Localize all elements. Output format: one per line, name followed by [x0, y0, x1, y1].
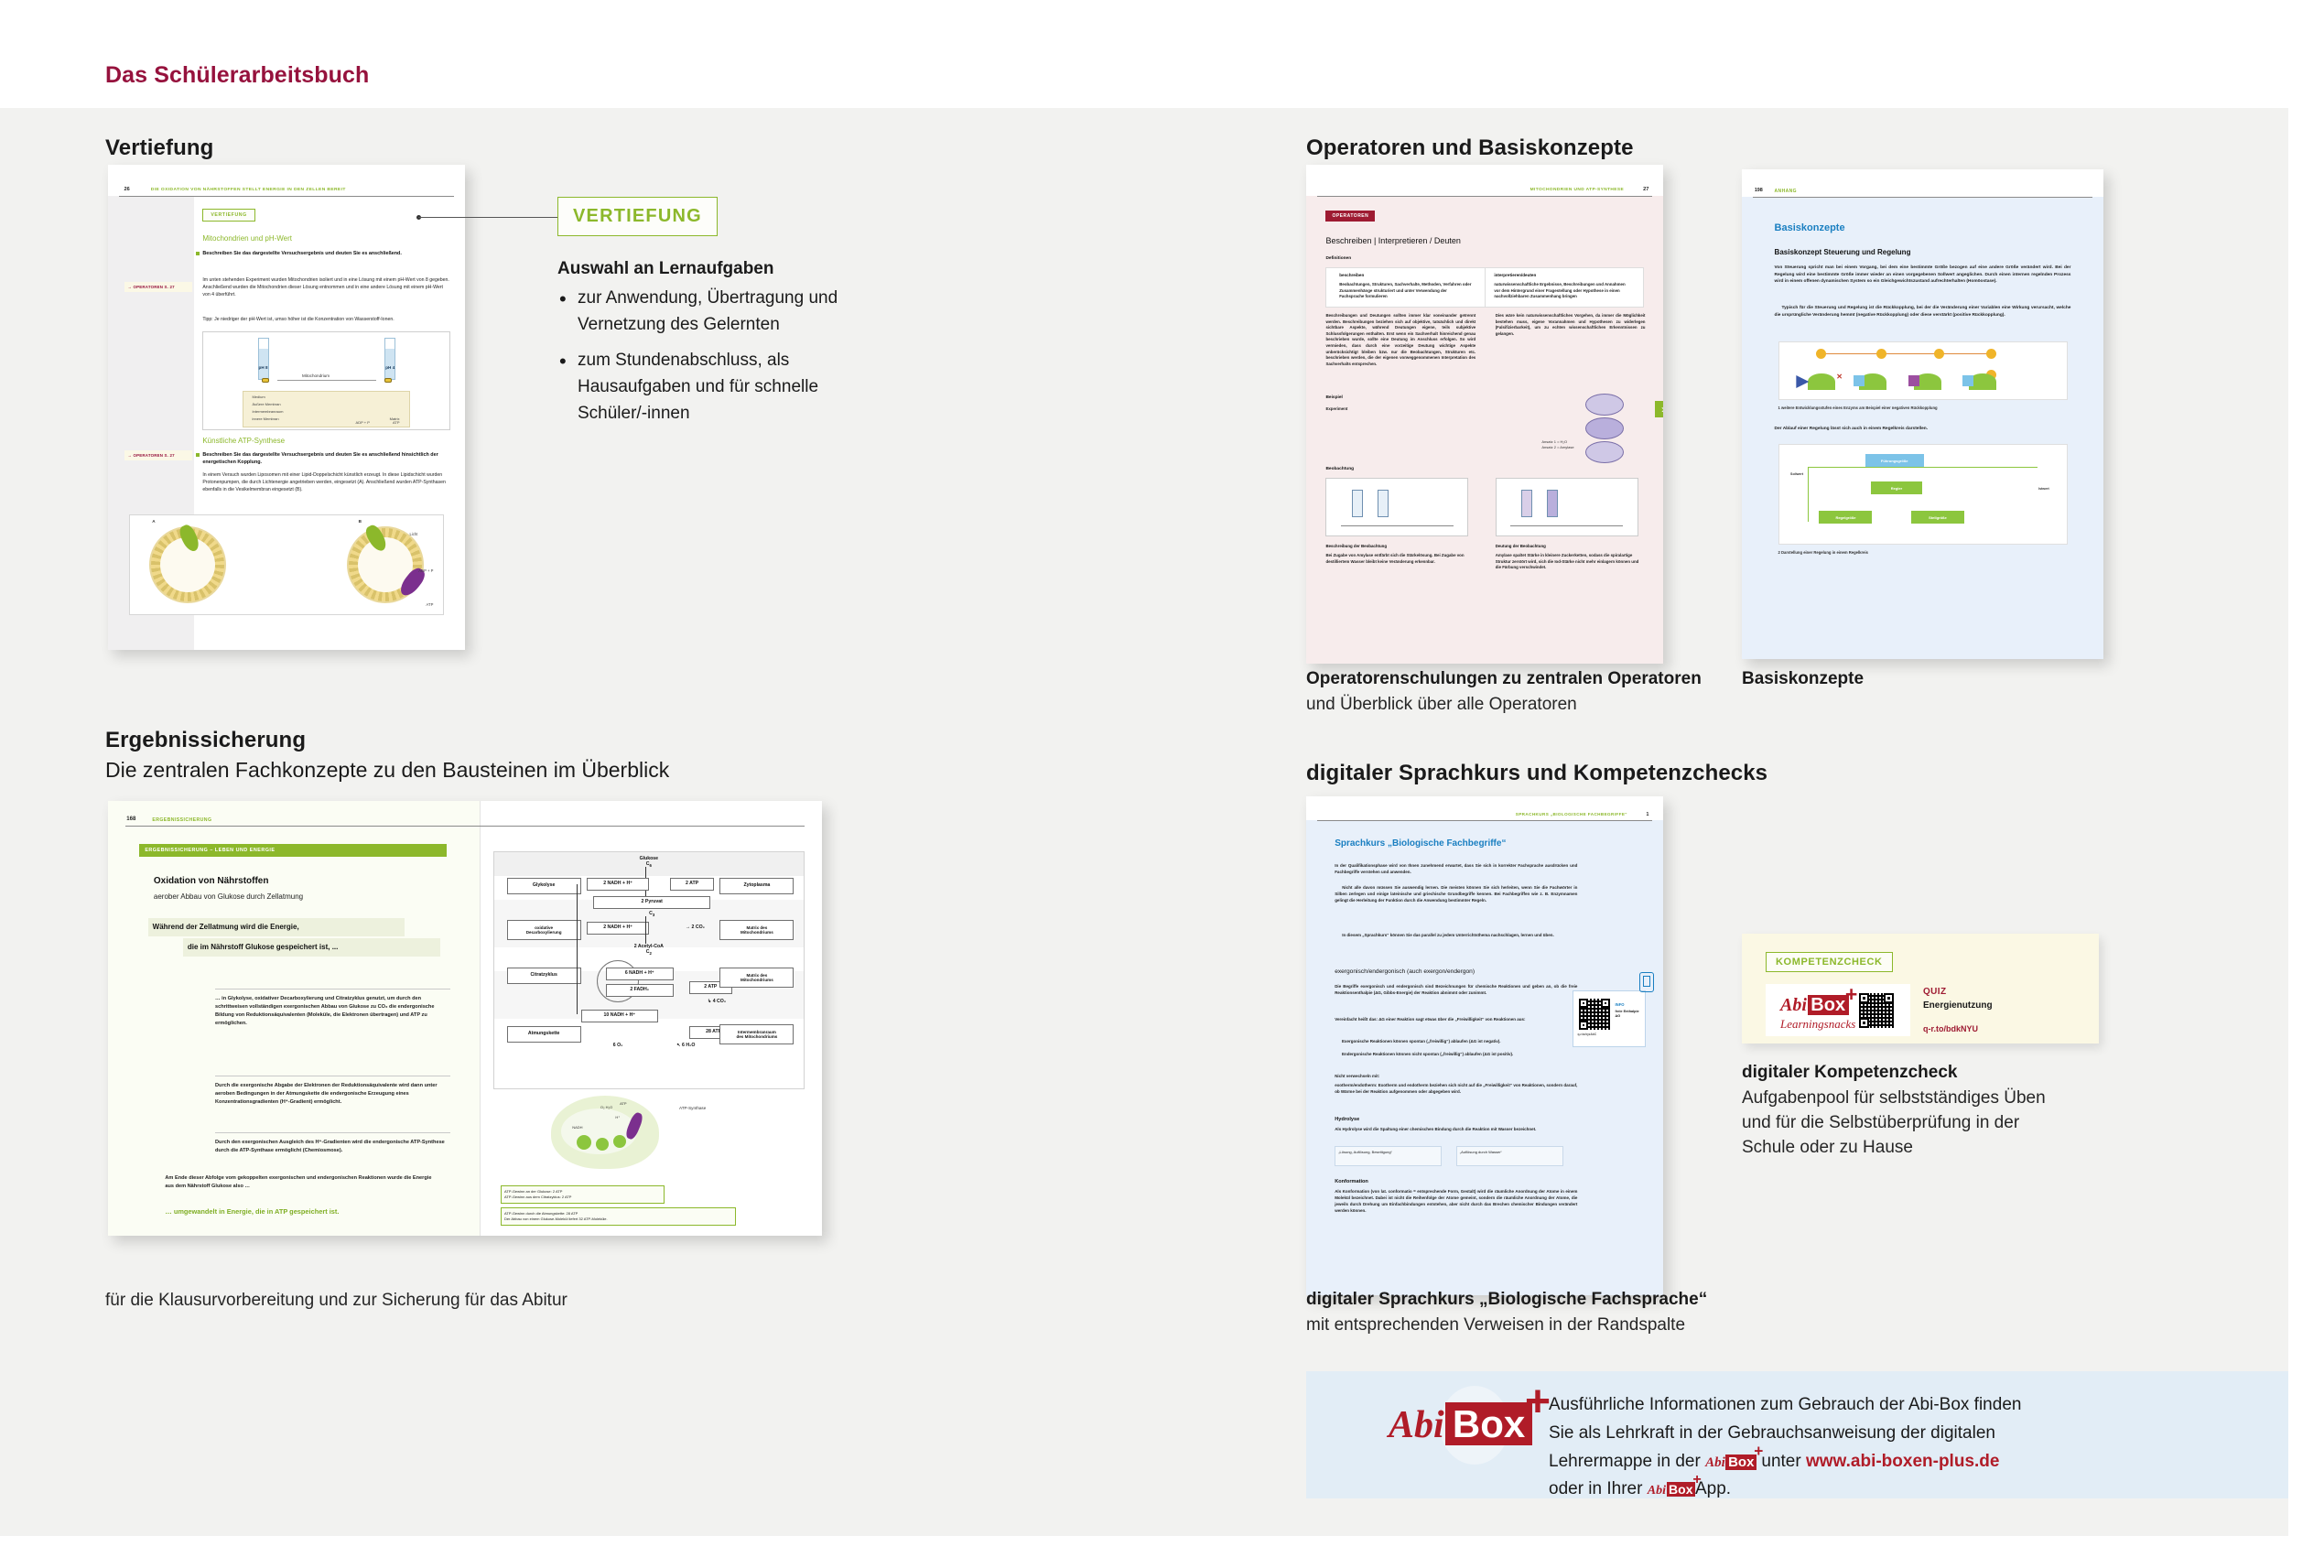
flow-node-pyruvat: 2 Pyruvat — [593, 896, 710, 909]
konformation-heading: Konformation — [1335, 1179, 1368, 1184]
abibox-logo-box: Box — [1445, 1402, 1531, 1445]
section-bar: ERGEBNISSICHERUNG – LEBEN UND ENERGIE — [139, 844, 446, 857]
test-tube-right: pH 4 — [384, 338, 395, 380]
info-label: INFO — [1616, 1002, 1625, 1007]
basiskonzepte-para-2: Typisch für die Steuerung und Regelung i… — [1775, 305, 2071, 319]
plus-icon: + — [1692, 1472, 1701, 1487]
flow-nadh-1: 2 NADH + H⁺ — [587, 878, 648, 891]
smartphone-icon — [1639, 972, 1654, 992]
figure-equation: Ansatz 1 = H₂OAnsatz 2 = Amylase — [1541, 439, 1573, 449]
hydrolyse-heading: Hydrolyse — [1335, 1117, 1359, 1122]
tube-mid — [1585, 417, 1624, 439]
page-folio: 168 — [126, 816, 135, 822]
tube-cap — [259, 339, 268, 349]
highlight-line-2: die im Nährstoff Glukose gespeichert ist… — [183, 938, 440, 957]
info-line-3-a: Lehrermappe in der — [1549, 1452, 1701, 1471]
term-bullet-1: Exergonische Reaktionen können spontan (… — [1342, 1038, 1577, 1044]
operatoren-chip: OPERATOREN — [1325, 211, 1375, 222]
flow-compartment-zytoplasma: Zytoplasma — [719, 878, 794, 894]
figure-experiment-left — [1325, 478, 1468, 536]
qr-code[interactable] — [1579, 999, 1610, 1030]
vertiefung-task: Beschreiben Sie das dargestellte Versuch… — [202, 250, 450, 257]
plus-icon: + — [1845, 984, 1857, 1005]
operatoren-body-2: Dies wäre kein naturwissenschaftliches V… — [1496, 313, 1646, 337]
page-spine — [480, 801, 481, 1236]
flow-nadh-3: 6 NADH + H⁺ — [606, 968, 674, 980]
beobachtung-label: Beobachtung — [1325, 467, 1354, 471]
intermediate-3 — [1962, 375, 1973, 386]
vertiefung-tip: Tipp: Je niedriger der pH-Wert ist, umso… — [202, 317, 450, 324]
abibox-logo-large: AbiBox+ — [1389, 1402, 1532, 1447]
flow-arrow — [645, 867, 646, 878]
sprachkurs-title: Sprachkurs „Biologische Fachbegriffe“ — [1335, 838, 1506, 849]
quiz-title: Energienutzung — [1923, 1000, 1993, 1011]
section-subheading-ergebnissicherung: Die zentralen Fachkonzepte zu den Bauste… — [105, 758, 669, 783]
substrate-node-1 — [1816, 349, 1826, 359]
fig-label-left: Beschreibung der Beobachtung — [1325, 544, 1387, 548]
operatoren-title: Beschreiben | Interpretieren / Deuten — [1325, 236, 1460, 245]
flow-o2: 6 O₂ — [597, 1043, 640, 1048]
info-text: freie Enthalpie ΔG — [1616, 1010, 1645, 1019]
highlight-line-1: Während der Zellatmung wird die Energie, — [148, 918, 405, 936]
fig-text-right: Amylase spaltet Stärke in kleinere Zucke… — [1496, 553, 1646, 571]
flow-fadh2: 2 FADH₂ — [606, 984, 674, 997]
abibox-info-banner: AbiBox+ Ausführliche Informationen zum G… — [1306, 1371, 2288, 1498]
callout-bullet-list: zur Anwendung, Übertragung und Vernetzun… — [557, 286, 850, 436]
vertiefung-headline: Mitochondrien und pH-Wert — [202, 234, 292, 243]
vertiefung-headline-2: Künstliche ATP-Synthese — [202, 437, 285, 445]
mitochondrion-left — [262, 378, 269, 383]
term-para-4: exotherm/endotherm: Exotherm und endothe… — [1335, 1082, 1577, 1095]
page-header-rule — [119, 196, 455, 197]
section-heading-operatoren: Operatoren und Basiskonzepte — [1306, 135, 1634, 161]
figure-center-label: Mitochondrium — [302, 373, 330, 378]
caption-sprachkurs-normal: mit entsprechenden Verweisen in der Rand… — [1306, 1314, 1685, 1338]
caption-ergebnissicherung: für die Klausurvorbereitung und zur Sich… — [105, 1289, 567, 1314]
bench-line — [1341, 525, 1454, 526]
flow-stage-atmungskette: Atmungskette — [507, 1026, 581, 1043]
body-paragraph-2: Durch die exergonische Abgabe der Elektr… — [215, 1082, 454, 1107]
test-tube-left: pH 8 — [258, 338, 269, 380]
definition-card: beschreiben Beobachtungen, Strukturen, S… — [1325, 267, 1643, 308]
vertiefung-badge-inpage: VERTIEFUNG — [202, 209, 254, 222]
qr-caption: q-r.to/xyzAbC — [1578, 1033, 1597, 1036]
info-line-3-b: unter — [1761, 1452, 1800, 1471]
info-line-4-a: oder in Ihrer — [1549, 1479, 1642, 1498]
definition-col1-heading: beschreiben — [1339, 273, 1364, 277]
page-running-head: MITOCHONDRIEN UND ATP-SYNTHESE — [1530, 188, 1625, 192]
abibox-logo: AbiBox+ — [1780, 995, 1849, 1016]
qr-eye-tl — [1579, 999, 1588, 1008]
abibox-logo-box: Box — [1808, 995, 1849, 1015]
caption-operatoren-bold: Operatorenschulungen zu zentralen Operat… — [1306, 669, 1702, 689]
quiz-label: QUIZ — [1923, 987, 1947, 997]
info-banner-text: Ausführliche Informationen zum Gebrauch … — [1549, 1391, 2021, 1504]
definition-col2-heading: interpretieren/deuten — [1494, 273, 1536, 277]
header-band — [0, 0, 2324, 108]
section-heading-ergebnissicherung: Ergebnissicherung — [105, 728, 306, 753]
label-atp-synthase: ATP-Synthase — [679, 1106, 706, 1110]
tube-bottom — [1585, 441, 1624, 463]
loop-arrow — [1808, 467, 2038, 468]
label-hplus: H⁺ — [615, 1115, 620, 1119]
info-banner-link[interactable]: www.abi-boxen-plus.de — [1806, 1452, 1999, 1471]
fig-text-left: Bei Zugabe von Amylase entfärbt sich die… — [1325, 553, 1468, 565]
figure-liposomes: A B Licht ADP + P ATP — [129, 514, 443, 615]
qr-eye-bl — [1859, 1018, 1869, 1028]
figure-experiment-right — [1496, 478, 1638, 536]
list-item: zur Anwendung, Übertragung und Vernetzun… — [557, 286, 850, 339]
info-line-1: Ausführliche Informationen zum Gebrauch … — [1549, 1391, 2021, 1420]
flow-co2-1: → 2 CO₂ — [667, 925, 723, 930]
abibox-learningsnacks-logo: AbiBox+ Learningsnacks — [1780, 995, 1855, 1032]
flow-stage-decarboxylierung: oxidativeDecarboxylierung — [507, 920, 581, 940]
info-line-3: Lehrermappe in der AbiBox+ unter www.abi… — [1549, 1448, 2021, 1476]
flow-h2o: ↖ 6 H₂O — [661, 1043, 710, 1048]
page-subtitle: aerober Abbau von Glukose durch Zellatmu… — [154, 892, 303, 901]
loop-node-stellgroesse: Stellgröße — [1911, 511, 1964, 524]
tube-label-left: pH 8 — [259, 365, 268, 370]
beispiel-intro: Experiment — [1325, 406, 1475, 413]
fig-label-right: Deutung der Beobachtung — [1496, 544, 1546, 548]
page-folio: 198 — [1755, 188, 1763, 193]
label-nadh: NADH — [572, 1125, 582, 1130]
caption-kompetenzcheck-bold: digitaler Kompetenzcheck — [1742, 1063, 1957, 1083]
kompetenzcheck-logo-panel: AbiBox+ Learningsnacks — [1766, 984, 1910, 1036]
sprachkurs-para-2: Nicht alle davon müssen Sie auswendig le… — [1335, 884, 1577, 903]
kompetenzcheck-badge: KOMPETENZCHECK — [1766, 952, 1893, 972]
flow-compartment-intermembran: Intermembranraumdes Mitochondriums — [719, 1024, 794, 1044]
kompetenzcheck-card: KOMPETENZCHECK AbiBox+ Learningsnacks QU… — [1742, 934, 2099, 1044]
note-box-2: ATP-Gewinn durch die Atmungskette: 28 AT… — [501, 1207, 736, 1226]
page-running-head: ANHANG — [1775, 189, 1797, 194]
flow-spine — [577, 884, 578, 1014]
abibox-logo: AbiBox+ — [1389, 1402, 1532, 1447]
term-para-3: Nicht verwechseln mit: — [1335, 1073, 1577, 1079]
definition-col2-text: naturwissenschaftliche Ergebnisse, Besch… — [1494, 282, 1629, 300]
abibox-logo-abi: Abi — [1705, 1455, 1725, 1470]
info-line-2: Sie als Lehrkraft in der Gebrauchsanweis… — [1549, 1420, 2021, 1448]
loop-label-istwert: Istwert — [2038, 487, 2049, 491]
flow-node-acetylcoa: 2 Acetyl-CoAC2 — [611, 944, 686, 956]
abibox-logo-box: Box — [1725, 1454, 1757, 1470]
silben-tag-2: „Auflösung durch Wasser“ — [1456, 1146, 1563, 1166]
figure-control-loop: Führungsgröße Regler Regelgröße Stellgrö… — [1778, 444, 2068, 545]
abibox-logo-abi: Abi — [1780, 995, 1807, 1015]
beaker-3 — [1521, 490, 1532, 517]
list-item: zum Stundenabschluss, als Hausaufgaben u… — [557, 348, 850, 427]
body-paragraph-3: Durch den exergonischen Ausgleich des H⁺… — [215, 1139, 454, 1155]
loop-node-regelgroesse: Regelgröße — [1819, 511, 1872, 524]
qr-eye-tl — [1859, 993, 1869, 1003]
closing-statement: … umgewandelt in Energie, die in ATP ges… — [165, 1207, 339, 1216]
loop-node-regler: Regler — [1871, 481, 1922, 494]
metabolism-flow-diagram: GlukoseC6 Glykolyse 2 NADH + H⁺ 2 ATP Zy… — [493, 851, 804, 1089]
fig2-label-atp: ATP — [427, 602, 434, 607]
caption-operatoren-normal: und Überblick über alle Operatoren — [1306, 693, 1577, 718]
term-bullet-2: Endergonische Reaktionen können nicht sp… — [1342, 1051, 1577, 1057]
sprachkurs-para-1: In der Qualifikationsphase wird von Ihne… — [1335, 862, 1577, 875]
qr-eye-tr — [1601, 999, 1610, 1008]
body-paragraph-1: … in Glykolyse, oxidativer Decarboxylier… — [215, 995, 454, 1028]
flow-stage-citratzyklus: Citratzyklus — [507, 968, 581, 984]
basiskonzepte-subtitle: Basiskonzept Steuerung und Regelung — [1775, 248, 1911, 256]
flow-atp-1: 2 ATP — [670, 878, 713, 891]
page-folio: 27 — [1643, 187, 1648, 192]
tube-label-right: pH 4 — [385, 365, 395, 370]
divider — [215, 989, 450, 989]
label-adp: ADP + P — [356, 420, 370, 425]
label-outer-membrane: Äußere Membran — [252, 402, 280, 406]
note-box-1: ATP-Gewinn an der Glukose: 2 ATPATP-Gewi… — [501, 1185, 665, 1204]
figure-enzyme-stages: ✕ — [1778, 341, 2068, 400]
margin-operator-ref-2: → OPERATOREN S. 27 — [124, 450, 192, 460]
fig2-label-b: B — [359, 519, 362, 524]
qr-eye-tr — [1884, 993, 1894, 1003]
term-para-1: Die Begriffe exergonisch und endergonisc… — [1335, 983, 1577, 996]
fig2-label-a: A — [152, 519, 155, 524]
liposome-b — [347, 526, 424, 603]
silben-tag-1: „Lösung, Auflösung, Beseitigung“ — [1335, 1146, 1442, 1166]
definition-col1-text: Beobachtungen, Strukturen, Sachverhalte,… — [1339, 282, 1472, 300]
flow-co2-2: ↳ 4 CO₂ — [686, 999, 747, 1004]
loop-arrow — [1808, 467, 1809, 522]
figure-ph-experiment: pH 8 pH 4 Mitochondrium Medium Äußere Me… — [202, 331, 450, 430]
fig2-label-adp: ADP + P — [418, 568, 433, 573]
page-header-rule — [1317, 196, 1653, 197]
page-folio: 26 — [124, 187, 130, 192]
flow-node-glukose: GlukoseC6 — [611, 856, 686, 868]
label-medium: Medium — [252, 395, 265, 399]
flow-compartment-matrix-2: Matrix desMitochondriums — [719, 968, 794, 988]
loop-label-sollwert: Sollwert — [1790, 472, 1803, 476]
flow-label-c3: C3 — [631, 911, 674, 917]
beispiel-label: Beispiel — [1325, 395, 1342, 400]
substrate-node-2 — [1876, 349, 1886, 359]
intermediate-1 — [1854, 375, 1865, 386]
flow-arrow — [645, 916, 646, 944]
quiz-url[interactable]: q-r.to/bdkNYU — [1923, 1024, 1978, 1033]
term-heading: exergonisch/endergonisch (auch exergon/e… — [1335, 968, 1475, 975]
flow-stage-glykolyse: Glykolyse — [507, 878, 581, 894]
page-running-head: SPRACHKURS „BIOLOGISCHE FACHBEGRIFFE“ — [1516, 812, 1627, 816]
vertiefung-callout-badge: VERTIEFUNG — [557, 197, 718, 236]
connector-line — [277, 380, 376, 381]
hydrolyse-para: Als Hydrolyse wird die Spaltung einer ch… — [1335, 1126, 1577, 1132]
abibox-logo-box: Box — [1667, 1482, 1695, 1497]
basiskonzepte-para-1: Von Steuerung spricht man bei einem Vorg… — [1775, 265, 2071, 286]
next-page-arrow-button[interactable]: › — [1655, 401, 1663, 417]
vertiefung-body-2: In einem Versuch wurden Liposomen mit ei… — [202, 471, 450, 493]
operatoren-body-1: Beschreibungen und Deutungen sollten imm… — [1325, 313, 1475, 367]
sprachkurs-para-3: In diesem „Sprachkurs“ können Sie das pa… — [1335, 932, 1577, 938]
book-page-sprachkurs: SPRACHKURS „BIOLOGISCHE FACHBEGRIFFE“ 1 … — [1306, 796, 1663, 1295]
learningsnacks-label: Learningsnacks — [1780, 1017, 1855, 1032]
mitochondrion-illustration: NADH O₂ H₂O ATP H⁺ — [551, 1096, 659, 1169]
page-header-rule — [1317, 820, 1653, 821]
flow-arrow — [645, 891, 646, 896]
flow-compartment-matrix-1: Matrix desMitochondriums — [719, 920, 794, 940]
figure-1-caption: 1 weitere Entwicklungsstufen eines Enzym… — [1778, 406, 2071, 410]
label-intermembrane: Intermembranraum — [252, 409, 283, 414]
flow-nadh-2: 2 NADH + H⁺ — [587, 922, 648, 935]
mitochondrion-right — [384, 378, 392, 383]
label-inner-membrane: innere Membran — [252, 416, 278, 421]
membrane-detail: Medium Äußere Membran Intermembranraum i… — [243, 391, 410, 427]
tube-cap — [385, 339, 395, 349]
caption-kompetenzcheck-normal: Aufgabenpool für selbstständiges Üben un… — [1742, 1087, 2071, 1161]
label-atp: ATP — [620, 1101, 626, 1106]
term-para-2: Vereinfacht heißt das: ΔG einer Reaktion… — [1335, 1016, 1577, 1022]
book-page-basiskonzepte: 198 ANHANG Basiskonzepte Basiskonzept St… — [1742, 169, 2103, 659]
caption-sprachkurs-bold: digitaler Sprachkurs „Biologische Fachsp… — [1306, 1290, 1707, 1310]
basiskonzepte-mid-text: Der Ablauf einer Regelung lässt sich auc… — [1775, 426, 2071, 433]
plus-icon: + — [1754, 1444, 1763, 1459]
page-folio: 1 — [1647, 812, 1649, 817]
liposome-a — [149, 526, 226, 603]
document-page: Das Schülerarbeitsbuch Vertiefung 26 DIE… — [0, 0, 2324, 1568]
book-page-operatoren: MITOCHONDRIEN UND ATP-SYNTHESE 27 OPERAT… — [1306, 165, 1663, 664]
qr-eye-bl — [1579, 1021, 1588, 1030]
qr-code-kompetenzcheck[interactable] — [1859, 993, 1894, 1028]
section-heading-sprachkurs: digitaler Sprachkurs und Kompetenzchecks — [1306, 761, 1767, 786]
callout-title: Auswahl an Lernaufgaben — [557, 259, 773, 279]
section-heading-vertiefung: Vertiefung — [105, 135, 213, 161]
abibox-logo-abi: Abi — [1389, 1404, 1444, 1446]
beaker-2 — [1378, 490, 1389, 517]
loop-node-fuehrungsgroesse: Führungsgröße — [1865, 454, 1924, 467]
beaker-1 — [1352, 490, 1363, 517]
qr-info-card[interactable]: q-r.to/xyzAbC INFO freie Enthalpie ΔG — [1573, 990, 1646, 1047]
page-title: Oxidation von Nährstoffen — [154, 876, 269, 886]
basiskonzepte-title: Basiskonzepte — [1775, 222, 1845, 233]
page-header-rule — [125, 826, 805, 827]
abibox-logo-abi: Abi — [1648, 1484, 1666, 1498]
abibox-logo-inline-2: AbiBox+ — [1648, 1479, 1695, 1502]
divider — [215, 1132, 450, 1133]
fig2-label-licht: Licht — [409, 532, 417, 536]
book-page-vertiefung: 26 DIE OXIDATION VON NÄHRSTOFFEN STELLT … — [108, 165, 465, 650]
info-line-4: oder in Ihrer AbiBox+App. — [1549, 1476, 2021, 1504]
figure-tube-stack — [1573, 394, 1638, 465]
body-paragraph-4: Am Ende dieser Abfolge vom gekoppelten e… — [165, 1174, 436, 1191]
tube-top — [1585, 394, 1624, 416]
intermediate-2 — [1908, 375, 1919, 386]
card-divider — [1485, 268, 1486, 307]
page-header-rule — [1753, 197, 2092, 198]
divider — [215, 1076, 450, 1076]
bench-line — [1510, 525, 1623, 526]
flow-nadh-total: 10 NADH + H⁺ — [581, 1010, 658, 1022]
vertiefung-task-2: Beschreiben Sie das dargestellte Versuch… — [202, 451, 450, 466]
book-page-ergebnissicherung: 168 ERGEBNISSICHERUNG ERGEBNISSICHERUNG … — [108, 801, 822, 1236]
inhibition-marker: ✕ — [1836, 373, 1843, 381]
feedback-connector — [1825, 353, 1992, 354]
label-o2h2o: O₂ H₂O — [600, 1105, 612, 1109]
caption-basiskonzepte: Basiskonzepte — [1742, 669, 1864, 689]
enzyme-1 — [1808, 373, 1835, 390]
definitionen-label: Definitionen — [1325, 256, 1351, 261]
vertiefung-body: Im unten stehenden Experiment wurden Mit… — [202, 276, 450, 298]
connector-line — [418, 217, 557, 218]
figure-2-caption: 2 Darstellung einer Regelung in einem Re… — [1778, 550, 2071, 555]
substrate-node-3 — [1934, 349, 1944, 359]
konformation-para: Als Konformation (von lat. conformatio =… — [1335, 1188, 1577, 1214]
page-running-head: ERGEBNISSICHERUNG — [152, 817, 211, 823]
plus-icon: + — [1525, 1379, 1551, 1423]
abibox-logo-inline: AbiBox+ — [1705, 1452, 1757, 1474]
label-atp: ATP — [393, 420, 399, 425]
page-title: Das Schülerarbeitsbuch — [105, 62, 369, 89]
beaker-4 — [1547, 490, 1558, 517]
page-running-head: DIE OXIDATION VON NÄHRSTOFFEN STELLT ENE… — [151, 188, 346, 192]
complex-i — [577, 1135, 591, 1150]
substrate-node-4 — [1986, 349, 1996, 359]
margin-operator-ref: → OPERATOREN S. 27 — [124, 282, 192, 292]
